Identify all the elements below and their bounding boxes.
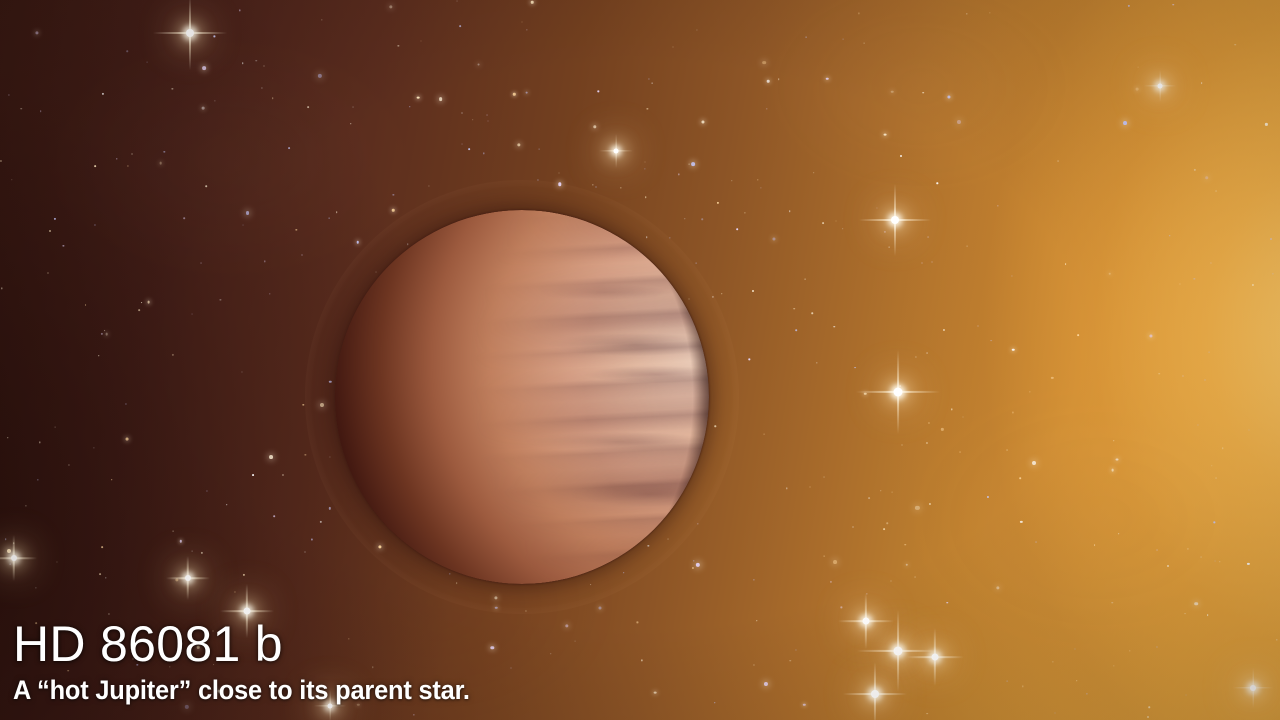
corner-vignette <box>0 0 1280 720</box>
caption-block: HD 86081 b A “hot Jupiter” close to its … <box>8 618 499 706</box>
planet-title: HD 86081 b <box>13 618 499 671</box>
exoplanet-illustration: HD 86081 b A “hot Jupiter” close to its … <box>0 0 1280 720</box>
planet-subtitle: A “hot Jupiter” close to its parent star… <box>13 676 470 706</box>
